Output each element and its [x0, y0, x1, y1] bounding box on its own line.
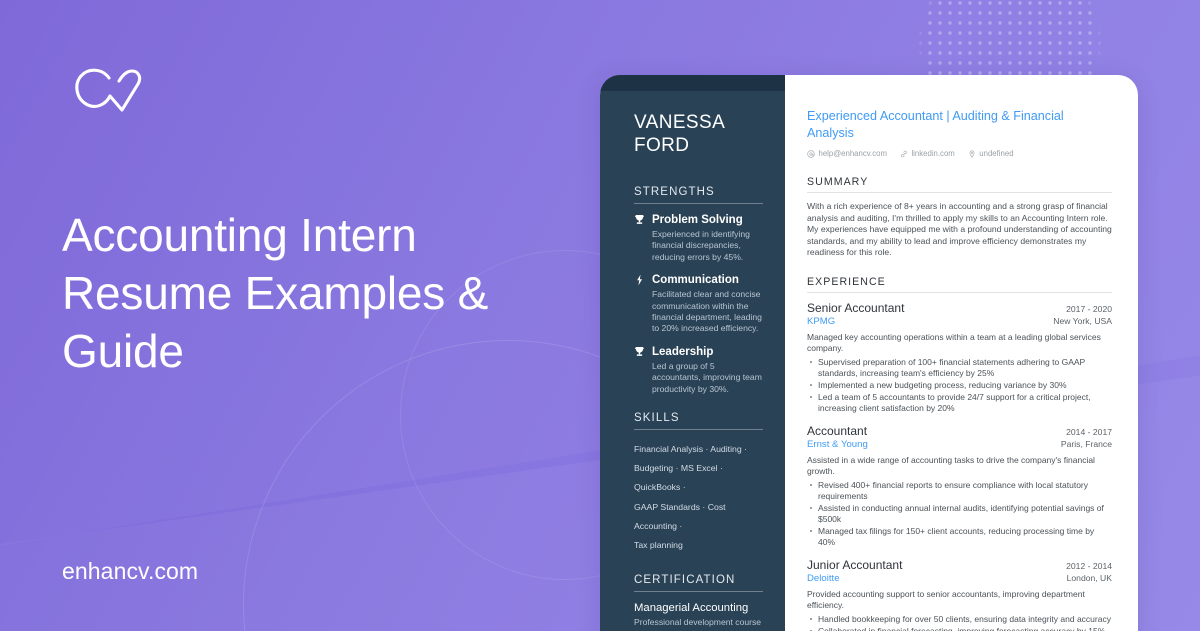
experience-bullets: Revised 400+ financial reports to ensure… [807, 480, 1112, 548]
contact-location-text: undefined [979, 149, 1013, 158]
lightning-bolt-icon [634, 274, 645, 286]
summary-text: With a rich experience of 8+ years in ac… [807, 201, 1112, 259]
contact-row: help@enhancv.com linkedin.com undefined [807, 149, 1112, 158]
skills-line: GAAP Standards · Cost Accounting · [634, 498, 763, 536]
experience-dates: 2017 - 2020 [1066, 304, 1112, 314]
experience-bullet: Assisted in conducting annual internal a… [807, 503, 1112, 525]
certification-divider [634, 591, 763, 592]
experience-bullet: Led a team of 5 accountants to provide 2… [807, 392, 1112, 414]
experience-role: Accountant [807, 424, 867, 438]
resume-main: Experienced Accountant | Auditing & Fina… [785, 75, 1138, 631]
resume-sidebar: VANESSA FORD STRENGTHS Problem Solving E… [600, 75, 785, 631]
experience-location: New York, USA [1053, 316, 1112, 326]
link-icon [900, 150, 908, 158]
strength-description: Led a group of 5 accountants, improving … [634, 361, 763, 395]
strength-item: Problem Solving Experienced in identifyi… [634, 214, 763, 263]
experience-bullet: Managed tax filings for 150+ client acco… [807, 526, 1112, 548]
contact-location[interactable]: undefined [968, 149, 1014, 158]
trophy-icon [634, 346, 645, 358]
strength-item: Communication Facilitated clear and conc… [634, 274, 763, 335]
certification-description: Professional development course on Manag… [634, 617, 763, 631]
experience-bullets: Supervised preparation of 100+ financial… [807, 357, 1112, 414]
experience-dates: 2012 - 2014 [1066, 561, 1112, 571]
experience-description: Provided accounting support to senior ac… [807, 589, 1112, 611]
resume-preview-card[interactable]: VANESSA FORD STRENGTHS Problem Solving E… [600, 75, 1138, 631]
location-pin-icon [968, 150, 976, 158]
experience-bullets: Handled bookkeeping for over 50 clients,… [807, 614, 1112, 631]
brand-url[interactable]: enhancv.com [62, 558, 198, 585]
email-icon [807, 150, 815, 158]
experience-role: Senior Accountant [807, 301, 904, 315]
experience-bullet: Supervised preparation of 100+ financial… [807, 357, 1112, 379]
experience-item: Accountant 2014 - 2017 Ernst & Young Par… [807, 424, 1112, 548]
contact-email-text: help@enhancv.com [819, 149, 887, 158]
skills-line: Financial Analysis · Auditing · [634, 440, 763, 459]
contact-link[interactable]: linkedin.com [900, 149, 955, 158]
trophy-icon [634, 214, 645, 226]
experience-description: Managed key accounting operations within… [807, 332, 1112, 354]
summary-heading: SUMMARY [807, 176, 1112, 188]
experience-bullet: Collaborated in financial forecasting, i… [807, 626, 1112, 631]
contact-email[interactable]: help@enhancv.com [807, 149, 887, 158]
enhancv-infinity-logo-icon [66, 66, 152, 118]
skills-heading: SKILLS [634, 412, 763, 424]
strength-item: Leadership Led a group of 5 accountants,… [634, 346, 763, 395]
certification-heading: CERTIFICATION [634, 574, 763, 586]
strength-label: Leadership [652, 346, 713, 358]
strengths-divider [634, 203, 763, 204]
experience-bullet: Revised 400+ financial reports to ensure… [807, 480, 1112, 502]
strength-label: Communication [652, 274, 739, 286]
strength-description: Experienced in identifying financial dis… [634, 229, 763, 263]
certification-title: Managerial Accounting [634, 602, 763, 615]
experience-location: Paris, France [1061, 439, 1112, 449]
page-title: Accounting Intern Resume Examples & Guid… [62, 206, 582, 380]
experience-item: Junior Accountant 2012 - 2014 Deloitte L… [807, 558, 1112, 631]
experience-role: Junior Accountant [807, 558, 902, 572]
hero-panel: Accounting Intern Resume Examples & Guid… [0, 0, 600, 631]
experience-company[interactable]: KPMG [807, 316, 835, 327]
contact-link-text: linkedin.com [911, 149, 954, 158]
strength-description: Facilitated clear and concise communicat… [634, 289, 763, 335]
skills-line: Tax planning [634, 536, 763, 555]
strength-label: Problem Solving [652, 214, 743, 226]
strengths-heading: STRENGTHS [634, 186, 763, 198]
skills-divider [634, 429, 763, 430]
resume-headline: Experienced Accountant | Auditing & Fina… [807, 108, 1112, 141]
experience-location: London, UK [1067, 573, 1112, 583]
experience-heading: EXPERIENCE [807, 276, 1112, 288]
promo-banner: Accounting Intern Resume Examples & Guid… [0, 0, 1200, 631]
experience-company[interactable]: Deloitte [807, 573, 840, 584]
candidate-name: VANESSA FORD [634, 111, 763, 157]
experience-dates: 2014 - 2017 [1066, 427, 1112, 437]
experience-description: Assisted in a wide range of accounting t… [807, 455, 1112, 477]
experience-company[interactable]: Ernst & Young [807, 439, 868, 450]
experience-item: Senior Accountant 2017 - 2020 KPMG New Y… [807, 301, 1112, 414]
experience-divider [807, 292, 1112, 293]
experience-bullet: Handled bookkeeping for over 50 clients,… [807, 614, 1112, 625]
summary-divider [807, 192, 1112, 193]
certification-item: Managerial Accounting Professional devel… [634, 602, 763, 631]
experience-bullet: Implemented a new budgeting process, red… [807, 380, 1112, 391]
skills-line: Budgeting · MS Excel · QuickBooks · [634, 459, 763, 497]
